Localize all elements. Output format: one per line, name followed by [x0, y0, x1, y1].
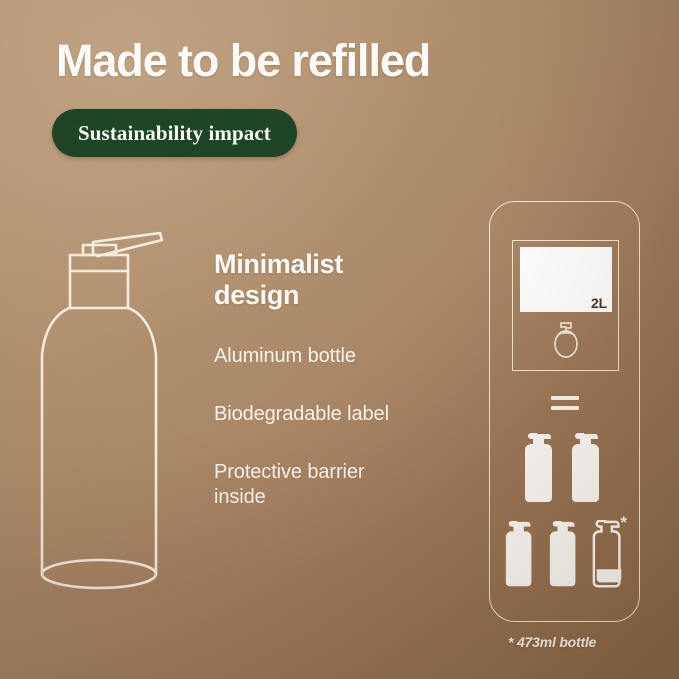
feature-copy-column: Minimalist design Aluminum bottle Biodeg…: [214, 249, 419, 509]
badge-label: Sustainability impact: [78, 121, 271, 146]
refill-label-white: 2L: [520, 247, 612, 312]
mini-bottle-filled: [547, 520, 583, 590]
equals-bar-bottom: [551, 406, 579, 410]
copy-title: Minimalist design: [214, 249, 419, 312]
refill-volume-text: 2L: [591, 295, 607, 311]
mini-bottle-partial: [591, 520, 627, 590]
mini-bottle-filled: [522, 432, 560, 506]
mini-bottle-filled: [569, 432, 607, 506]
refill-comparison-panel: 2L *: [489, 201, 640, 622]
pump-bottle-outline-icon: [36, 222, 211, 597]
feature-item-protective-barrier: Protective barrier inside: [214, 460, 419, 509]
feature-item-aluminum-bottle: Aluminum bottle: [214, 344, 419, 368]
poster-canvas: Made to be refilled Sustainability impac…: [0, 0, 679, 679]
footnote-text: * 473ml bottle: [508, 634, 596, 650]
equals-sign-icon: [551, 396, 579, 410]
pump-bottle-mini-outline-icon: [544, 319, 588, 363]
page-title: Made to be refilled: [56, 37, 430, 84]
refill-container-outline: 2L: [512, 240, 619, 371]
mini-bottle-filled: [503, 520, 539, 590]
feature-item-biodegradable-label: Biodegradable label: [214, 402, 419, 426]
status-badge: Sustainability impact: [52, 109, 297, 157]
bottle-row-bottom: [490, 520, 639, 590]
equals-bar-top: [551, 396, 579, 400]
bottle-row-top: [490, 432, 639, 506]
